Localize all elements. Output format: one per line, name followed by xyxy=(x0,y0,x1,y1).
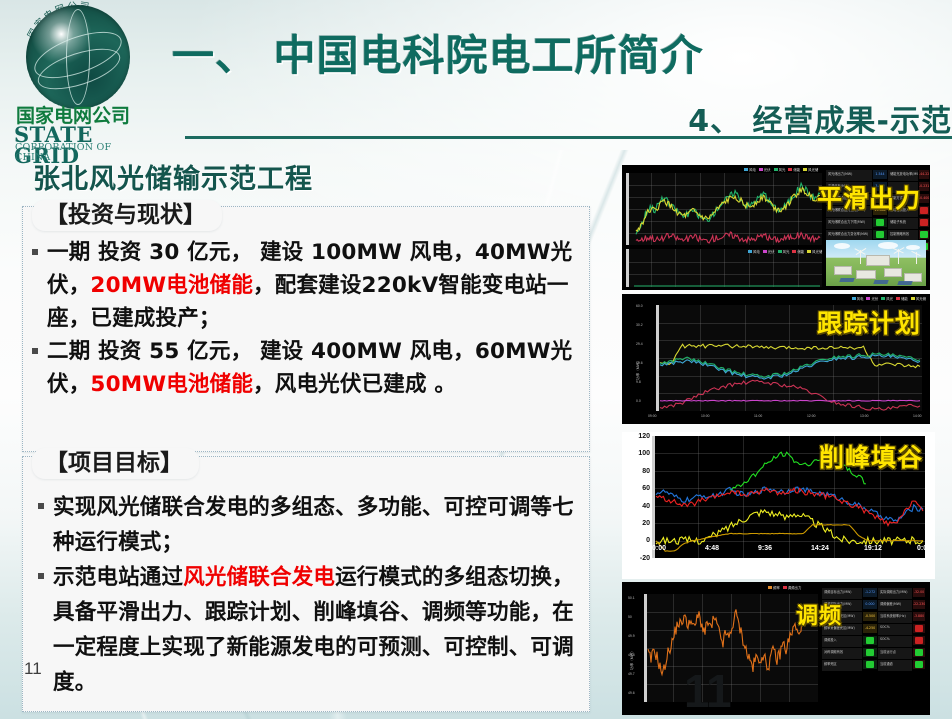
project-name-heading: 张北风光储输示范工程 xyxy=(33,157,313,196)
legend-label: 光伏 xyxy=(764,167,771,172)
x-axis-tick: 9:36 xyxy=(758,545,772,552)
status-led xyxy=(915,649,923,656)
legend-item: 光伏 xyxy=(759,167,771,172)
smooth-output-legend-2: 风电光伏风光储能风光储 xyxy=(748,249,822,254)
legend-label: 风光 xyxy=(783,249,790,254)
legend-label: 储能 xyxy=(797,249,804,254)
peak-shaving-y-ticks: 120100806040200-20 xyxy=(622,433,652,573)
table-label: 对称调频有效 xyxy=(822,648,862,659)
table-value: 0.000 xyxy=(863,600,877,609)
y-axis-tick: 40 xyxy=(626,503,650,510)
section-header-investment: 【投资与现状】 xyxy=(32,200,222,231)
status-led xyxy=(920,231,928,238)
highlighted-text: 20MW电池储能 xyxy=(90,273,253,298)
legend-swatch xyxy=(778,250,782,253)
list-item: 实现风光储联合发电的多组态、多功能、可控可调等七种运行模式； xyxy=(36,490,588,560)
legend-swatch xyxy=(803,168,807,171)
x-axis-tick: 09:00 xyxy=(648,414,657,418)
x-axis-tick: 11:00 xyxy=(754,414,762,418)
table-label: 储能子系统 xyxy=(888,218,918,229)
x-axis-tick: 19:12 xyxy=(864,545,882,552)
legend-label: 风光 xyxy=(779,167,786,172)
legend-swatch xyxy=(792,250,796,253)
caption-frequency-regulation: 调频 xyxy=(796,598,842,630)
screenshot-peak-shaving[interactable]: 120100806040200-20 0:004:489:3614:2419:1… xyxy=(622,432,935,579)
x-axis-tick: 4:48 xyxy=(705,545,719,552)
screenshot-smooth-output[interactable]: 风电光伏风光储能风光储 风电光伏风光储能风光储 风光储出力(MW)1.544储能… xyxy=(622,165,930,290)
highlighted-text: 50MW电池储能 xyxy=(90,372,253,397)
table-value xyxy=(873,218,887,227)
table-value xyxy=(913,624,925,633)
legend-item: 风电 xyxy=(744,167,756,172)
frequency-regulation-chart xyxy=(644,594,818,702)
legend-item: 风电 xyxy=(748,249,760,254)
y-axis-tick: 50.1 xyxy=(628,596,635,600)
legend-label: 储能 xyxy=(901,296,908,301)
peak-shaving-x-ticks: 0:004:489:3614:2419:120:00 xyxy=(652,545,932,557)
legend-label: 调频出力 xyxy=(788,585,802,590)
table-value: 1.544 xyxy=(873,170,887,179)
legend-item: 风光储 xyxy=(911,296,926,301)
legend-item: 储能 xyxy=(896,296,908,301)
table-value xyxy=(919,230,929,239)
legend-label: 储能 xyxy=(793,167,800,172)
status-led xyxy=(920,207,928,214)
table-value: -4.250 xyxy=(863,624,877,633)
table-value: -0.500 xyxy=(863,612,877,621)
list-item: 一期 投资 30 亿元， 建设 100MW 风电，40MW光伏，20MW电池储能… xyxy=(30,236,586,335)
legend-swatch xyxy=(852,297,856,300)
table-value xyxy=(913,636,925,645)
legend-label: 风光储 xyxy=(812,249,822,254)
x-axis-tick: 14:24 xyxy=(811,545,829,552)
status-led xyxy=(915,661,923,668)
screenshot-frequency-regulation[interactable]: 频率调频出力 50.15049.949.849.749.6 功率（MW） 调频目… xyxy=(622,582,930,715)
table-label: 当前运行点 xyxy=(878,648,912,659)
legend-item: 风光储 xyxy=(807,249,822,254)
table-value xyxy=(913,648,925,657)
table-value: -44.222 xyxy=(919,170,929,179)
table-value: -22.230 xyxy=(913,600,925,609)
legend-swatch xyxy=(774,168,778,171)
legend-item: 风光 xyxy=(778,249,790,254)
table-label: SOC% xyxy=(878,624,912,635)
x-axis-tick: 0:00 xyxy=(652,545,666,552)
legend-item: 光伏 xyxy=(763,249,775,254)
y-axis-tick: 29.4 xyxy=(636,342,643,346)
y-axis-tick: 100 xyxy=(626,450,650,457)
legend-item: 光伏 xyxy=(866,296,878,301)
table-label: 当前系统频率(Hz) xyxy=(878,612,912,623)
y-axis-tick: 49.9 xyxy=(628,634,635,638)
legend-label: 风光储 xyxy=(808,167,818,172)
caption-peak-shaving: 削峰填谷 xyxy=(819,438,923,474)
investment-bullet-list: 一期 投资 30 亿元， 建设 100MW 风电，40MW光伏，20MW电池储能… xyxy=(30,236,586,401)
y-axis-tick: 49.7 xyxy=(628,672,635,676)
legend-label: 风光 xyxy=(886,296,893,301)
legend-item: 风光储 xyxy=(803,167,818,172)
y-axis-tick: 9.8 xyxy=(636,380,641,384)
y-axis-tick: 20 xyxy=(626,520,650,527)
status-led xyxy=(920,219,928,226)
legend-swatch xyxy=(768,586,772,589)
caption-tracking-plan: 跟踪计划 xyxy=(817,304,921,340)
tracking-plan-y-axis-label: 功率（MW） xyxy=(636,359,641,380)
smooth-output-lower-chart xyxy=(626,249,822,287)
screenshot-tracking-plan[interactable]: 风电光伏风光储能风光储 60.030.229.419.69.80.0 09:00… xyxy=(622,294,930,424)
legend-swatch xyxy=(807,250,811,253)
x-axis-tick: 13:00 xyxy=(860,414,869,418)
table-value: -3.880 xyxy=(913,612,925,621)
bullet-text: ，风电光伏已建成 。 xyxy=(253,372,456,397)
status-led xyxy=(866,661,874,668)
y-axis-tick: 0.0 xyxy=(636,399,641,403)
legend-item: 风光 xyxy=(774,167,786,172)
y-axis-tick: -20 xyxy=(626,555,650,562)
status-led xyxy=(866,637,874,644)
legend-swatch xyxy=(881,297,885,300)
status-led xyxy=(915,625,923,632)
x-axis-tick: 10:00 xyxy=(701,414,710,418)
y-axis-tick: 50 xyxy=(628,615,632,619)
x-axis-tick: 0:00 xyxy=(917,545,931,552)
legend-item: 储能 xyxy=(788,167,800,172)
legend-item: 储能 xyxy=(792,249,804,254)
x-axis-tick: 14:00 xyxy=(913,414,922,418)
caption-smooth-output: 平滑出力 xyxy=(817,179,921,215)
legend-swatch xyxy=(866,297,870,300)
frequency-regulation-legend: 频率调频出力 xyxy=(768,585,801,590)
legend-item: 风电 xyxy=(852,296,864,301)
legend-label: 风电 xyxy=(749,167,756,172)
table-label: 频率死区 xyxy=(822,660,862,671)
legend-item: 调频出力 xyxy=(783,585,802,590)
table-label: 实际调频出力(MW) xyxy=(878,588,912,599)
y-axis-tick: 49.6 xyxy=(628,691,635,695)
slide-canvas: 国家电网公司 STATE GRID CORPORATION OF CHINA 国… xyxy=(0,0,952,719)
table-label: SOC% xyxy=(878,636,912,647)
frequency-regulation-y-axis-label: 功率（MW） xyxy=(630,649,635,670)
large-page-number-overlay: 11 xyxy=(684,664,731,718)
legend-swatch xyxy=(748,250,752,253)
x-axis-tick: 12:00 xyxy=(807,414,816,418)
y-axis-tick: 60 xyxy=(626,485,650,492)
bullet-text: 示范电站通过 xyxy=(53,565,183,590)
y-axis-tick: 80 xyxy=(626,468,650,475)
table-value xyxy=(919,218,929,227)
table-label: 调频偏差(MW) xyxy=(878,600,912,611)
legend-swatch xyxy=(788,168,792,171)
y-axis-tick: 0 xyxy=(626,537,650,544)
legend-label: 光伏 xyxy=(768,249,775,254)
y-axis-tick: 60.0 xyxy=(636,304,643,308)
table-value xyxy=(863,660,877,669)
table-value: -32.00 xyxy=(913,588,925,597)
station-photo-thumbnail xyxy=(826,240,926,286)
legend-swatch xyxy=(896,297,900,300)
bullet-text: 实现风光储联合发电的多组态、多功能、可控可调等七种运行模式； xyxy=(53,495,574,555)
legend-label: 风光储 xyxy=(916,296,926,301)
page-number: 11 xyxy=(24,659,42,679)
y-axis-tick: 120 xyxy=(626,433,650,440)
legend-item: 频率 xyxy=(768,585,780,590)
state-grid-logo: 国家电网公司 STATE GRID CORPORATION OF CHINA 国… xyxy=(8,3,148,148)
goals-bullet-list: 实现风光储联合发电的多组态、多功能、可控可调等七种运行模式；示范电站通过风光储联… xyxy=(36,490,588,700)
list-item: 示范电站通过风光储联合发电运行模式的多组态切换，具备平滑出力、跟踪计划、削峰填谷… xyxy=(36,560,588,700)
legend-swatch xyxy=(911,297,915,300)
legend-label: 光伏 xyxy=(871,296,878,301)
list-item: 二期 投资 55 亿元， 建设 400MW 风电，60MW光伏，50MW电池储能… xyxy=(30,335,586,401)
status-led xyxy=(876,231,884,238)
legend-swatch xyxy=(763,250,767,253)
table-label: 当前通道 xyxy=(878,660,912,671)
legend-swatch xyxy=(759,168,763,171)
legend-label: 频率 xyxy=(773,585,780,590)
smooth-output-legend: 风电光伏风光储能风光储 xyxy=(744,167,818,172)
legend-swatch xyxy=(744,168,748,171)
table-label: 风光储联合出力下限(MW) xyxy=(826,218,872,229)
legend-label: 风电 xyxy=(857,296,864,301)
legend-swatch xyxy=(783,586,787,589)
status-led xyxy=(915,637,923,644)
page-subtitle: 4、 经营成果-示范 xyxy=(688,96,952,140)
tracking-plan-legend: 风电光伏风光储能风光储 xyxy=(852,296,926,301)
status-led xyxy=(876,219,884,226)
section-header-goals: 【项目目标】 xyxy=(32,448,199,479)
page-title: 一、 中国电科院电工所简介 xyxy=(172,22,704,83)
table-value xyxy=(913,660,925,669)
legend-item: 风光 xyxy=(881,296,893,301)
legend-label: 风电 xyxy=(753,249,760,254)
y-axis-tick: 30.2 xyxy=(636,323,643,327)
header-divider xyxy=(185,136,952,139)
table-value xyxy=(873,230,887,239)
status-led xyxy=(866,649,874,656)
table-label: 调频投入 xyxy=(822,636,862,647)
highlighted-text: 风光储联合发电 xyxy=(183,565,335,590)
table-value xyxy=(863,648,877,657)
smooth-output-upper-chart xyxy=(626,173,822,245)
table-value: -1.272 xyxy=(863,588,877,597)
table-value xyxy=(863,636,877,645)
globe-emblem-icon xyxy=(26,5,130,109)
